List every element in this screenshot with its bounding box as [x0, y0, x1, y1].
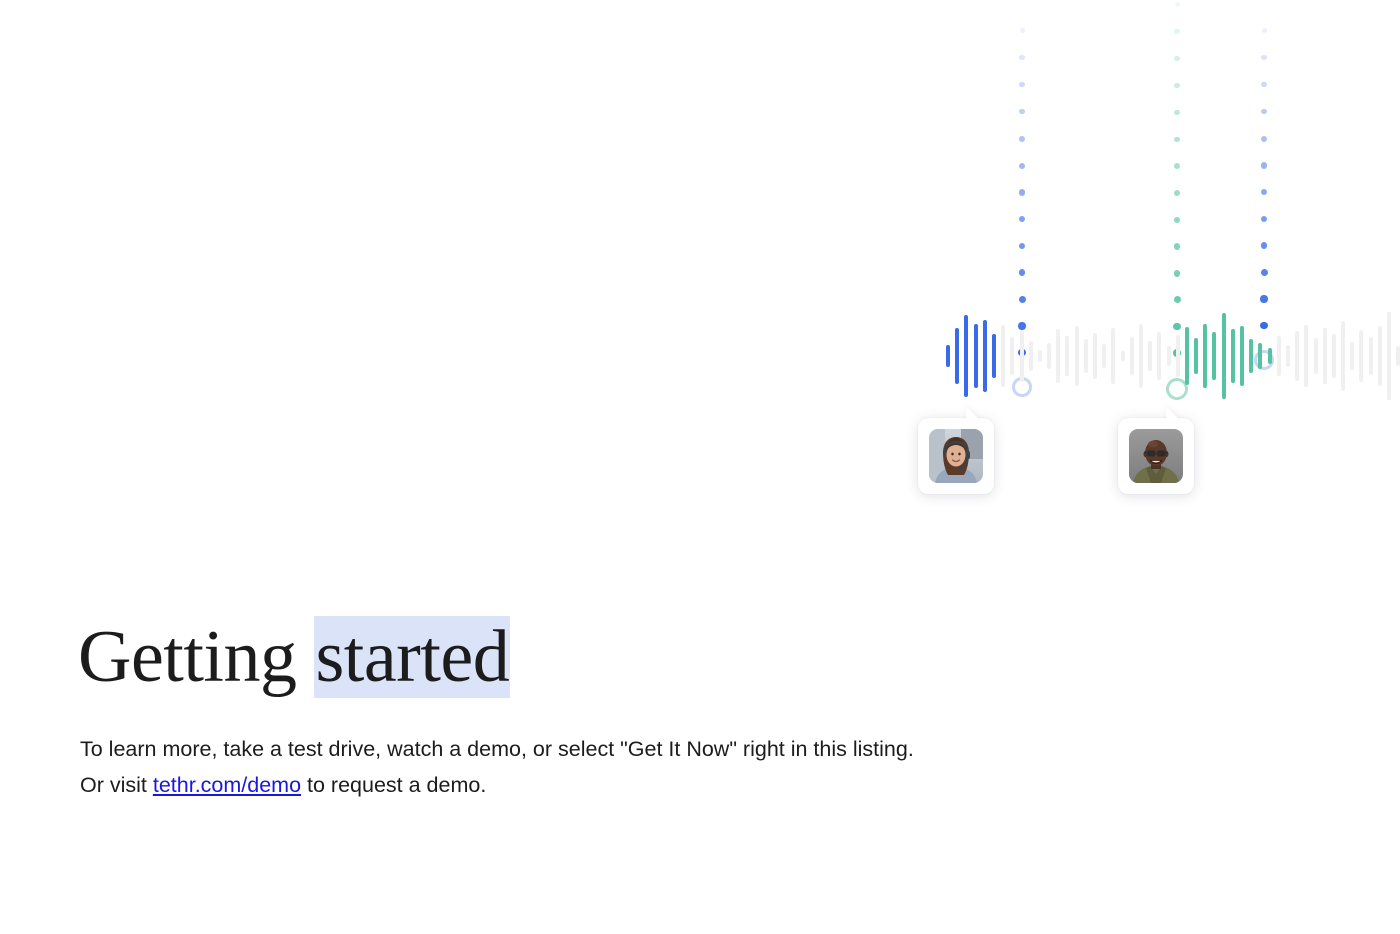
- waveform-bar: [1176, 335, 1180, 377]
- marker-dot: [1261, 242, 1268, 249]
- waveform-bar: [1222, 313, 1226, 399]
- marker-dot: [1261, 82, 1266, 87]
- waveform-bar: [1341, 321, 1345, 391]
- waveform-bar: [1268, 348, 1272, 364]
- waveform-bar: [1038, 350, 1042, 362]
- waveform-bar: [1075, 326, 1079, 386]
- marker-dot: [1175, 2, 1180, 7]
- waveform-bar: [1387, 312, 1391, 400]
- marker-dot: [1174, 56, 1179, 61]
- waveform-bar: [1212, 332, 1216, 380]
- waveform-bar: [1286, 345, 1290, 367]
- conversation-waveform: [946, 310, 1306, 402]
- waveform-bar: [1047, 343, 1051, 369]
- marker-dot: [1174, 29, 1179, 34]
- marker-dot: [1174, 243, 1181, 250]
- intro-paragraph: To learn more, take a test drive, watch …: [80, 732, 940, 803]
- waveform-bar: [1304, 325, 1308, 387]
- waveform-bar: [946, 345, 950, 367]
- marker-dot: [1019, 296, 1026, 303]
- waveform-bar: [1378, 326, 1382, 386]
- waveform-bar: [1130, 337, 1134, 375]
- waveform-bar: [1010, 337, 1014, 375]
- marker-dot: [1174, 296, 1181, 303]
- page-title-highlight: started: [314, 616, 510, 698]
- marker-dot: [1261, 136, 1267, 142]
- waveform-bar: [1332, 334, 1336, 378]
- marker-dot: [1174, 190, 1180, 196]
- getting-started-section: Getting started To learn more, take a te…: [78, 620, 978, 803]
- waveform-bar: [955, 328, 959, 384]
- waveform-bar: [1020, 330, 1024, 382]
- page-title-prefix: Getting: [78, 616, 314, 698]
- waveform-bar: [1203, 324, 1207, 388]
- waveform-bar: [1231, 329, 1235, 383]
- marker-dot: [1019, 189, 1025, 195]
- avatar-card-customer: [1118, 418, 1194, 494]
- marker-dot: [1019, 82, 1024, 87]
- waveform-bar: [1065, 336, 1069, 376]
- marker-dot: [1261, 216, 1268, 223]
- waveform-bar: [1240, 326, 1244, 386]
- marker-dot: [1174, 163, 1180, 169]
- speech-bubble-tail-icon: [1166, 406, 1182, 422]
- marker-dot: [1262, 28, 1267, 33]
- speech-bubble-tail-icon: [966, 406, 982, 422]
- waveform-bar: [992, 334, 996, 378]
- waveform-bar: [1084, 339, 1088, 373]
- marker-dot: [1174, 217, 1181, 224]
- waveform-bar: [1185, 327, 1189, 385]
- marker-dot: [1019, 163, 1025, 169]
- waveform-bar: [1093, 333, 1097, 379]
- marker-dot: [1261, 109, 1267, 115]
- call-waveform-illustration: [900, 0, 1320, 500]
- avatar: [1129, 429, 1183, 483]
- waveform-bar: [1350, 342, 1354, 370]
- avatar-card-agent: [918, 418, 994, 494]
- waveform-bar: [1121, 351, 1125, 361]
- waveform-bar: [1258, 343, 1262, 369]
- marker-dot: [1019, 269, 1026, 276]
- waveform-bar: [1148, 341, 1152, 371]
- waveform-bar: [1102, 344, 1106, 368]
- marker-dot: [1174, 110, 1180, 116]
- waveform-bar: [1167, 346, 1171, 366]
- waveform-bar: [1359, 330, 1363, 382]
- intro-text-after-link: to request a demo.: [301, 773, 486, 797]
- marker-dot: [1019, 216, 1025, 222]
- waveform-bar: [1139, 324, 1143, 388]
- page-title: Getting started: [78, 620, 978, 694]
- waveform-bar: [974, 324, 978, 388]
- waveform-bar: [1056, 329, 1060, 383]
- waveform-bar: [1001, 325, 1005, 387]
- marker-dot: [1019, 243, 1026, 250]
- marker-dot: [1261, 189, 1267, 195]
- marker-dot: [1261, 162, 1267, 168]
- waveform-bar: [1029, 341, 1033, 371]
- marker-dot: [1019, 109, 1025, 115]
- marker-dot: [1174, 83, 1180, 89]
- marker-dot: [1019, 55, 1024, 60]
- waveform-bar: [1194, 338, 1198, 374]
- waveform-bar: [1295, 331, 1299, 381]
- marker-dot: [1261, 55, 1266, 60]
- waveform-bar: [983, 320, 987, 392]
- waveform-bar: [1249, 339, 1253, 373]
- marker-dot: [1174, 270, 1181, 277]
- waveform-bar: [1396, 346, 1400, 366]
- marker-dot: [1020, 28, 1025, 33]
- marker-dot: [1019, 136, 1025, 142]
- waveform-bar: [1277, 336, 1281, 376]
- waveform-bar: [964, 315, 968, 397]
- waveform-bar: [1314, 338, 1318, 374]
- waveform-bar: [1323, 328, 1327, 384]
- avatar: [929, 429, 983, 483]
- marker-dot: [1261, 269, 1268, 276]
- waveform-bar: [1157, 332, 1161, 380]
- marker-dot: [1174, 137, 1180, 143]
- marker-dot: [1260, 295, 1267, 302]
- waveform-bar: [1369, 337, 1373, 375]
- demo-link[interactable]: tethr.com/demo: [153, 773, 301, 797]
- waveform-bar: [1111, 328, 1115, 384]
